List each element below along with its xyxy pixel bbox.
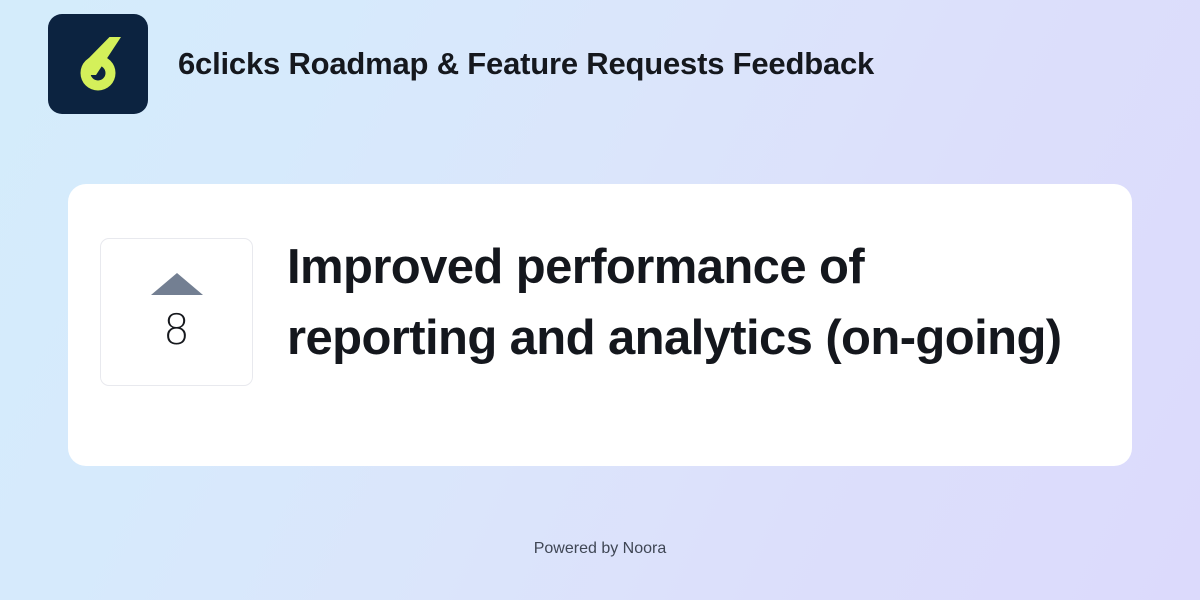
post-card[interactable]: 8 Improved performance of reporting and …: [68, 184, 1132, 466]
site-header: 6clicks Roadmap & Feature Requests Feedb…: [48, 14, 874, 114]
upvote-button[interactable]: 8: [100, 238, 253, 386]
site-logo[interactable]: [48, 14, 148, 114]
vote-count: 8: [163, 309, 190, 351]
page-title: 6clicks Roadmap & Feature Requests Feedb…: [178, 46, 874, 82]
upvote-triangle-icon[interactable]: [151, 273, 203, 295]
post-title: Improved performance of reporting and an…: [287, 232, 1077, 374]
6clicks-logo-icon: [65, 31, 131, 97]
powered-by-footer[interactable]: Powered by Noora: [0, 540, 1200, 558]
